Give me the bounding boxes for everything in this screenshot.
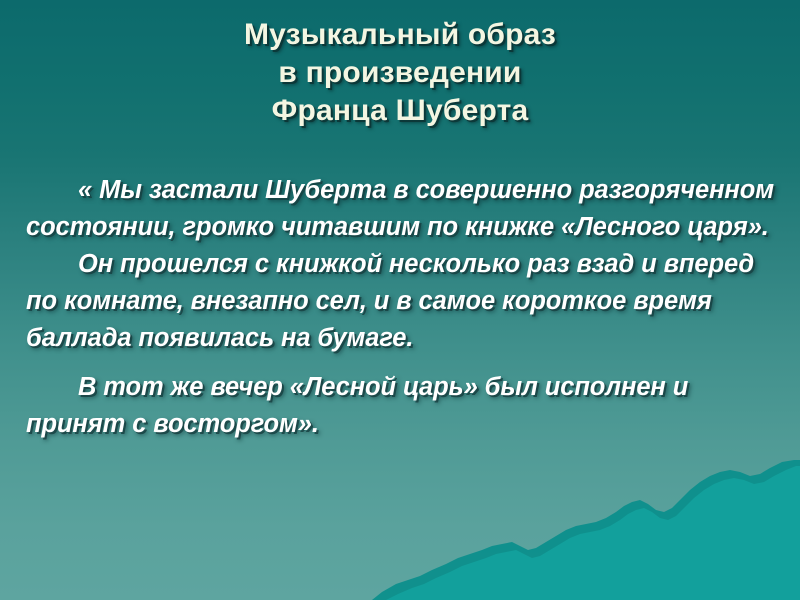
slide-body: « Мы застали Шуберта в совершенно разгор… — [26, 172, 778, 443]
presentation-slide: Музыкальный образ в произведении Франца … — [0, 0, 800, 600]
wave-shadow-shape — [372, 460, 800, 600]
title-line-2: в произведении — [0, 54, 800, 92]
body-paragraph-3: В тот же вечер «Лесной царь» был исполне… — [26, 369, 778, 443]
title-line-1: Музыкальный образ — [0, 16, 800, 54]
body-paragraph-1: « Мы застали Шуберта в совершенно разгор… — [26, 172, 778, 246]
slide-title: Музыкальный образ в произведении Франца … — [0, 16, 800, 130]
wave-shape — [386, 466, 800, 600]
wave-decoration — [0, 460, 800, 600]
title-line-3: Франца Шуберта — [0, 92, 800, 130]
body-paragraph-2: Он прошелся с книжкой несколько раз взад… — [26, 246, 778, 357]
